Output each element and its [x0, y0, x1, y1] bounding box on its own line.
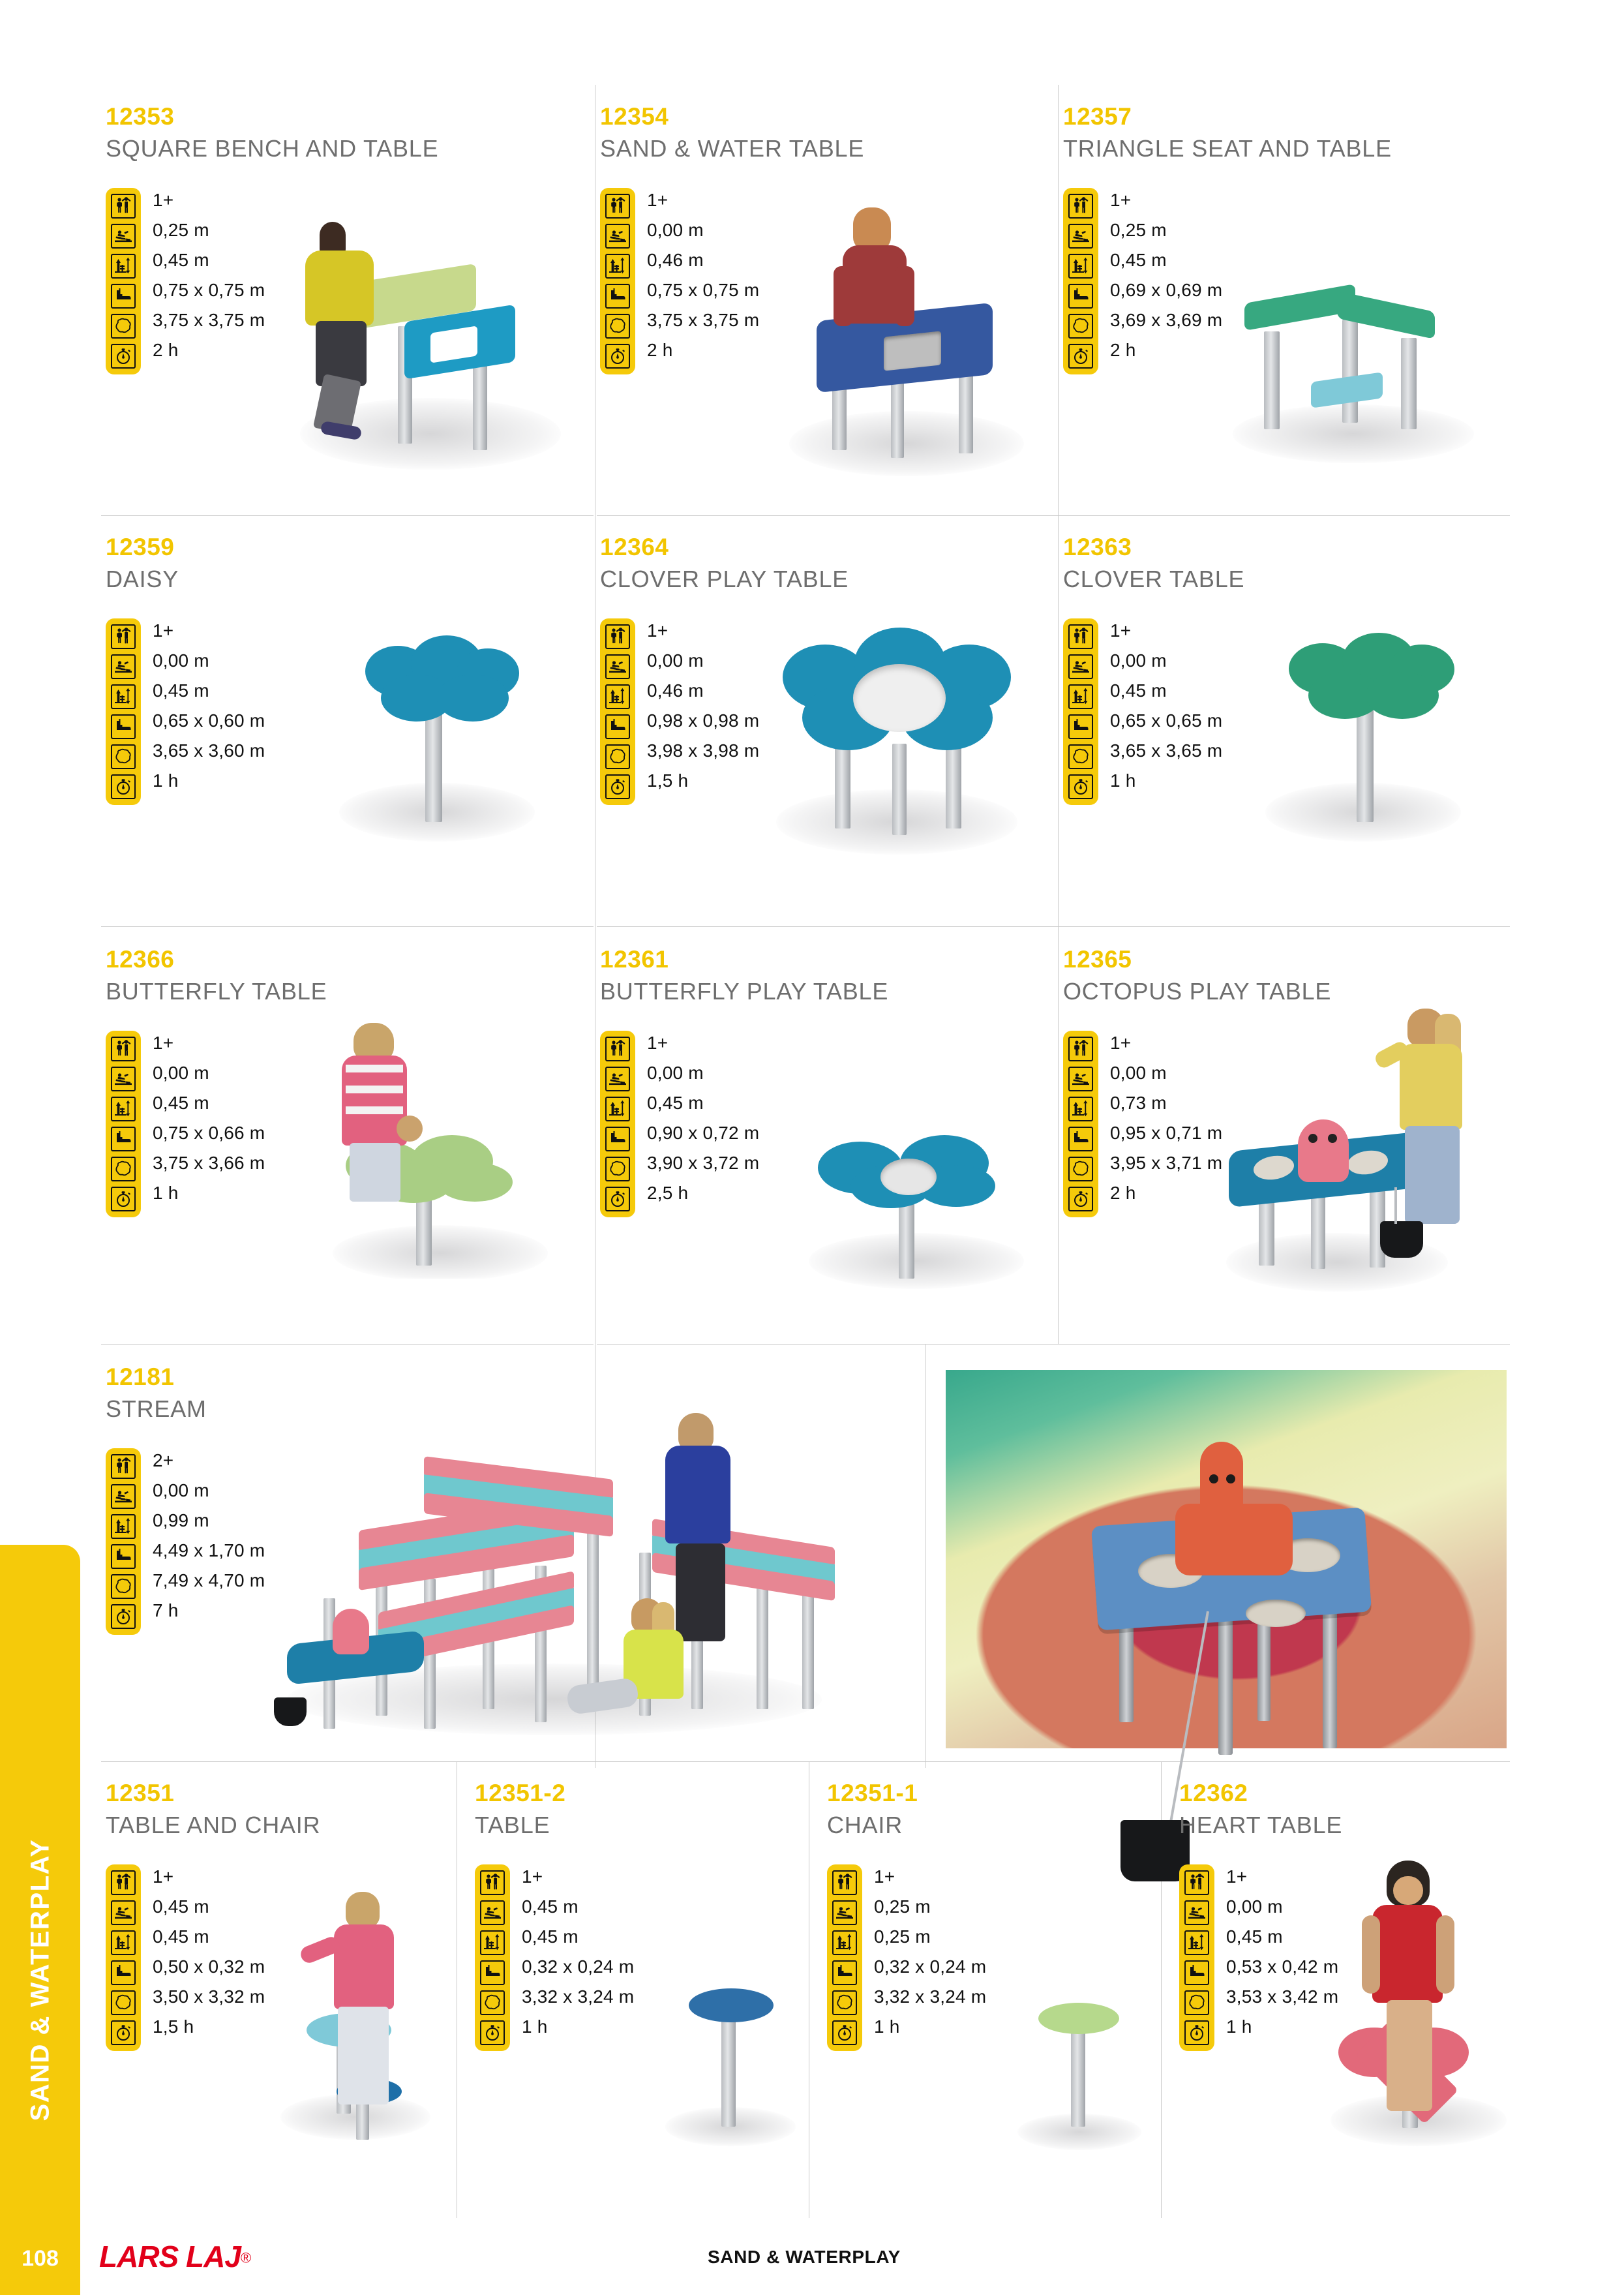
spec-strip: 1+0,00 m0,45 m0,53 x 0,42 m3,53 x 3,42 m… — [1179, 1864, 1338, 2051]
safety-zone-icon — [1068, 314, 1093, 339]
footprint-icon — [832, 1960, 857, 1985]
safety-zone-icon — [1068, 744, 1093, 769]
spec-value: 0,69 x 0,69 m — [1110, 278, 1222, 303]
fall-height-icon — [1068, 224, 1093, 249]
spec-value: 1+ — [647, 618, 759, 643]
product-name: CLOVER TABLE — [1063, 567, 1244, 592]
age-group-icon — [1068, 624, 1093, 649]
spec-icon-column — [106, 1864, 141, 2051]
product-card-12362[interactable]: 12362 HEART TABLE — [1179, 1781, 1342, 1838]
install-time-icon — [111, 2020, 136, 2045]
safety-zone-icon — [605, 744, 630, 769]
spec-strip: 1+0,00 m0,45 m0,90 x 0,72 m3,90 x 3,72 m… — [600, 1031, 759, 1217]
spec-value: 1 h — [153, 768, 265, 793]
spec-icon-column — [475, 1864, 510, 2051]
equipment-height-icon — [1068, 1097, 1093, 1121]
spec-value: 0,65 x 0,60 m — [153, 708, 265, 733]
spec-value: 0,73 m — [1110, 1091, 1222, 1116]
spec-value: 1+ — [153, 1864, 265, 1889]
spec-value: 0,98 x 0,98 m — [647, 708, 759, 733]
age-group-icon — [832, 1870, 857, 1895]
equipment-height-icon — [605, 684, 630, 709]
spec-value: 3,69 x 3,69 m — [1110, 308, 1222, 333]
spec-value: 0,32 x 0,24 m — [874, 1954, 986, 1979]
spec-value-column: 1+0,00 m0,45 m0,65 x 0,65 m3,65 x 3,65 m… — [1110, 618, 1222, 805]
category-tab: SAND & WATERPLAY 108 — [0, 1545, 80, 2295]
age-group-icon — [605, 1037, 630, 1061]
spec-value: 3,65 x 3,65 m — [1110, 738, 1222, 763]
product-name: HEART TABLE — [1179, 1813, 1342, 1838]
spec-icon-column — [600, 1031, 635, 1217]
spec-value: 0,00 m — [1110, 648, 1222, 673]
playground-photo-octopus — [946, 1370, 1507, 1748]
spec-strip: 1+0,00 m0,46 m0,75 x 0,75 m3,75 x 3,75 m… — [600, 188, 759, 374]
safety-zone-icon — [111, 1157, 136, 1181]
spec-value: 0,45 m — [1226, 1924, 1338, 1949]
spec-strip: 1+0,25 m0,45 m0,75 x 0,75 m3,75 x 3,75 m… — [106, 188, 265, 374]
spec-icon-column — [1063, 1031, 1098, 1217]
install-time-icon — [1068, 344, 1093, 369]
footprint-icon — [1068, 284, 1093, 309]
product-photo-12366 — [307, 1018, 567, 1279]
install-time-icon — [832, 2020, 857, 2045]
product-code: 12351-2 — [475, 1781, 565, 1805]
product-code: 12181 — [106, 1365, 207, 1389]
spec-value: 1 h — [153, 1181, 265, 1206]
install-time-icon — [111, 774, 136, 799]
spec-strip: 1+0,25 m0,25 m0,32 x 0,24 m3,32 x 3,24 m… — [827, 1864, 986, 2051]
grid-divider — [101, 515, 594, 516]
spec-value: 0,32 x 0,24 m — [522, 1954, 634, 1979]
spec-value: 0,75 x 0,66 m — [153, 1121, 265, 1146]
equipment-height-icon — [480, 1930, 505, 1955]
product-card-12351-2[interactable]: 12351-2 TABLE — [475, 1781, 565, 1838]
spec-value: 0,25 m — [874, 1894, 986, 1919]
spec-value: 2 h — [1110, 1181, 1222, 1206]
fall-height-icon — [111, 1900, 136, 1925]
product-card-12363[interactable]: 12363 CLOVER TABLE — [1063, 535, 1244, 592]
product-code: 12366 — [106, 947, 327, 971]
spec-value: 0,00 m — [153, 1061, 265, 1086]
footprint-icon — [605, 1127, 630, 1151]
equipment-height-icon — [111, 1514, 136, 1539]
spec-strip: 1+0,00 m0,45 m0,65 x 0,65 m3,65 x 3,65 m… — [1063, 618, 1222, 805]
fall-height-icon — [1068, 1067, 1093, 1091]
spec-value: 7 h — [153, 1598, 265, 1623]
spec-value: 0,00 m — [647, 648, 759, 673]
product-card-12359[interactable]: 12359 DAISY — [106, 535, 179, 592]
spec-strip: 1+0,45 m0,45 m0,50 x 0,32 m3,50 x 3,32 m… — [106, 1864, 265, 2051]
spec-value-column: 1+0,00 m0,73 m0,95 x 0,71 m3,95 x 3,71 m… — [1110, 1031, 1222, 1217]
product-card-12364[interactable]: 12364 CLOVER PLAY TABLE — [600, 535, 849, 592]
spec-value: 3,32 x 3,24 m — [874, 1984, 986, 2009]
spec-value: 2 h — [1110, 338, 1222, 363]
spec-value: 0,25 m — [1110, 218, 1222, 243]
spec-value: 1+ — [153, 188, 265, 213]
safety-zone-icon — [832, 1990, 857, 2015]
spec-value: 0,25 m — [153, 218, 265, 243]
grid-divider — [101, 1761, 1510, 1762]
product-name: TABLE AND CHAIR — [106, 1813, 320, 1838]
spec-value: 1 h — [1110, 768, 1222, 793]
product-code: 12363 — [1063, 535, 1244, 559]
footer-category-label: SAND & WATERPLAY — [708, 2247, 901, 2268]
spec-value: 4,49 x 1,70 m — [153, 1538, 265, 1563]
product-code: 12362 — [1179, 1781, 1342, 1805]
product-card-12353[interactable]: 12353 SQUARE BENCH AND TABLE — [106, 104, 438, 161]
spec-value: 1,5 h — [153, 2014, 265, 2039]
spec-icon-column — [1179, 1864, 1214, 2051]
spec-value: 0,95 x 0,71 m — [1110, 1121, 1222, 1146]
equipment-height-icon — [111, 1097, 136, 1121]
install-time-icon — [605, 344, 630, 369]
spec-value: 0,45 m — [153, 1924, 265, 1949]
spec-strip: 2+0,00 m0,99 m4,49 x 1,70 m7,49 x 4,70 m… — [106, 1448, 265, 1635]
spec-value: 1 h — [522, 2014, 634, 2039]
grid-divider — [925, 1344, 925, 1768]
spec-value: 0,45 m — [647, 1091, 759, 1116]
spec-value-column: 1+0,00 m0,45 m0,53 x 0,42 m3,53 x 3,42 m… — [1226, 1864, 1338, 2051]
spec-value: 0,46 m — [647, 248, 759, 273]
spec-value: 0,75 x 0,75 m — [647, 278, 759, 303]
spec-value: 1,5 h — [647, 768, 759, 793]
spec-value: 0,45 m — [153, 1894, 265, 1919]
install-time-icon — [1068, 1187, 1093, 1211]
safety-zone-icon — [111, 314, 136, 339]
grid-divider — [597, 1344, 1089, 1345]
install-time-icon — [1068, 774, 1093, 799]
spec-value: 0,46 m — [647, 678, 759, 703]
age-group-icon — [111, 194, 136, 219]
spec-value: 3,98 x 3,98 m — [647, 738, 759, 763]
spec-value: 1+ — [1226, 1864, 1338, 1889]
age-group-icon — [1184, 1870, 1209, 1895]
spec-strip: 1+0,00 m0,45 m0,75 x 0,66 m3,75 x 3,66 m… — [106, 1031, 265, 1217]
spec-value: 2+ — [153, 1448, 265, 1473]
footprint-icon — [1068, 1127, 1093, 1151]
age-group-icon — [111, 624, 136, 649]
spec-value-column: 1+0,00 m0,45 m0,75 x 0,66 m3,75 x 3,66 m… — [153, 1031, 265, 1217]
product-code: 12353 — [106, 104, 438, 129]
spec-icon-column — [106, 1448, 141, 1635]
grid-divider — [597, 926, 1089, 927]
spec-value: 0,45 m — [1110, 678, 1222, 703]
spec-value: 3,32 x 3,24 m — [522, 1984, 634, 2009]
age-group-icon — [605, 194, 630, 219]
fall-height-icon — [605, 224, 630, 249]
product-name: SQUARE BENCH AND TABLE — [106, 136, 438, 161]
grid-divider — [1060, 515, 1510, 516]
footprint-icon — [605, 714, 630, 739]
install-time-icon — [111, 1187, 136, 1211]
age-group-icon — [605, 624, 630, 649]
product-name: CLOVER PLAY TABLE — [600, 567, 849, 592]
spec-value: 1 h — [874, 2014, 986, 2039]
spec-value-column: 1+0,25 m0,45 m0,75 x 0,75 m3,75 x 3,75 m… — [153, 188, 265, 374]
product-code: 12351-1 — [827, 1781, 918, 1805]
product-code: 12354 — [600, 104, 864, 129]
grid-divider — [1060, 1344, 1510, 1345]
spec-value-column: 1+0,25 m0,45 m0,69 x 0,69 m3,69 x 3,69 m… — [1110, 188, 1222, 374]
safety-zone-icon — [605, 1157, 630, 1181]
fall-height-icon — [605, 1067, 630, 1091]
brand-logo-text: LARS LAJ — [99, 2240, 241, 2273]
equipment-height-icon — [111, 684, 136, 709]
spec-value: 0,00 m — [1110, 1061, 1222, 1086]
spec-value: 0,45 m — [1110, 248, 1222, 273]
product-photo-12365 — [1220, 992, 1500, 1305]
safety-zone-icon — [1184, 1990, 1209, 2015]
page-footer: LARS LAJ® SAND & WATERPLAY — [0, 2217, 1624, 2295]
age-group-icon — [1068, 1037, 1093, 1061]
equipment-height-icon — [605, 1097, 630, 1121]
product-name: CHAIR — [827, 1813, 918, 1838]
product-card-12181[interactable]: 12181 STREAM — [106, 1365, 207, 1421]
age-group-icon — [111, 1037, 136, 1061]
fall-height-icon — [605, 654, 630, 679]
grid-divider — [1060, 926, 1510, 927]
spec-value: 0,50 x 0,32 m — [153, 1954, 265, 1979]
product-photo-12351-1 — [1017, 1977, 1141, 2159]
fall-height-icon — [111, 1067, 136, 1091]
product-photo-12353 — [280, 209, 580, 489]
age-group-icon — [480, 1870, 505, 1895]
fall-height-icon — [480, 1900, 505, 1925]
grid-divider — [101, 1344, 594, 1345]
spec-value: 1+ — [874, 1864, 986, 1889]
spec-value-column: 1+0,00 m0,45 m0,90 x 0,72 m3,90 x 3,72 m… — [647, 1031, 759, 1217]
spec-value: 0,99 m — [153, 1508, 265, 1533]
spec-value-column: 1+0,45 m0,45 m0,50 x 0,32 m3,50 x 3,32 m… — [153, 1864, 265, 2051]
spec-value: 1+ — [647, 188, 759, 213]
product-card-12351[interactable]: 12351 TABLE AND CHAIR — [106, 1781, 320, 1838]
fall-height-icon — [111, 224, 136, 249]
spec-value: 0,53 x 0,42 m — [1226, 1954, 1338, 1979]
safety-zone-icon — [1068, 1157, 1093, 1181]
product-card-12361[interactable]: 12361 BUTTERFLY PLAY TABLE — [600, 947, 888, 1004]
age-group-icon — [1068, 194, 1093, 219]
product-code: 12359 — [106, 535, 179, 559]
spec-value: 3,65 x 3,60 m — [153, 738, 265, 763]
spec-icon-column — [827, 1864, 862, 2051]
product-photo-12364 — [757, 594, 1037, 868]
product-photo-12351-2 — [665, 1957, 796, 2153]
equipment-height-icon — [111, 1930, 136, 1955]
fall-height-icon — [111, 1484, 136, 1509]
fall-height-icon — [1068, 654, 1093, 679]
spec-value: 2 h — [647, 338, 759, 363]
safety-zone-icon — [605, 314, 630, 339]
product-card-12365[interactable]: 12365 OCTOPUS PLAY TABLE — [1063, 947, 1331, 1004]
install-time-icon — [605, 774, 630, 799]
spec-icon-column — [600, 618, 635, 805]
safety-zone-icon — [111, 744, 136, 769]
footprint-icon — [480, 1960, 505, 1985]
spec-value: 0,00 m — [1226, 1894, 1338, 1919]
spec-value-column: 1+0,25 m0,25 m0,32 x 0,24 m3,32 x 3,24 m… — [874, 1864, 986, 2051]
fall-height-icon — [1184, 1900, 1209, 1925]
safety-zone-icon — [111, 1990, 136, 2015]
grid-divider — [457, 1761, 457, 2218]
product-code: 12364 — [600, 535, 849, 559]
catalog-page: SAND & WATERPLAY 108 — [0, 0, 1624, 2295]
spec-icon-column — [106, 188, 141, 374]
spec-value: 1+ — [1110, 618, 1222, 643]
spec-value: 3,95 x 3,71 m — [1110, 1151, 1222, 1176]
spec-value: 0,65 x 0,65 m — [1110, 708, 1222, 733]
brand-logo: LARS LAJ® — [99, 2239, 251, 2274]
grid-divider — [1058, 85, 1059, 1344]
spec-value: 0,45 m — [153, 1091, 265, 1116]
spec-value: 3,53 x 3,42 m — [1226, 1984, 1338, 2009]
footprint-icon — [605, 284, 630, 309]
spec-value: 0,25 m — [874, 1924, 986, 1949]
spec-value: 7,49 x 4,70 m — [153, 1568, 265, 1593]
age-group-icon — [111, 1454, 136, 1479]
spec-icon-column — [600, 188, 635, 374]
install-time-icon — [480, 2020, 505, 2045]
spec-value: 1+ — [522, 1864, 634, 1889]
spec-value-column: 2+0,00 m0,99 m4,49 x 1,70 m7,49 x 4,70 m… — [153, 1448, 265, 1635]
age-group-icon — [111, 1870, 136, 1895]
spec-value: 0,00 m — [647, 1061, 759, 1086]
spec-value: 1+ — [647, 1031, 759, 1056]
spec-value-column: 1+0,00 m0,46 m0,98 x 0,98 m3,98 x 3,98 m… — [647, 618, 759, 805]
spec-value-column: 1+0,00 m0,45 m0,65 x 0,60 m3,65 x 3,60 m… — [153, 618, 265, 805]
spec-icon-column — [106, 618, 141, 805]
product-photo-12351 — [274, 1879, 444, 2153]
product-photo-12357 — [1226, 228, 1487, 463]
spec-value: 1 h — [1226, 2014, 1338, 2039]
footprint-icon — [1184, 1960, 1209, 1985]
equipment-height-icon — [1184, 1930, 1209, 1955]
product-code: 12351 — [106, 1781, 320, 1805]
spec-strip: 1+0,25 m0,45 m0,69 x 0,69 m3,69 x 3,69 m… — [1063, 188, 1222, 374]
grid-divider — [101, 926, 594, 927]
equipment-height-icon — [111, 254, 136, 279]
spec-strip: 1+0,00 m0,46 m0,98 x 0,98 m3,98 x 3,98 m… — [600, 618, 759, 805]
grid-divider — [597, 515, 1089, 516]
footprint-icon — [111, 714, 136, 739]
footprint-icon — [1068, 714, 1093, 739]
product-name: BUTTERFLY TABLE — [106, 979, 327, 1004]
product-code: 12361 — [600, 947, 888, 971]
spec-icon-column — [1063, 618, 1098, 805]
category-tab-label: SAND & WATERPLAY — [25, 1839, 55, 2121]
product-name: OCTOPUS PLAY TABLE — [1063, 979, 1331, 1004]
spec-value: 1+ — [153, 618, 265, 643]
spec-value: 1+ — [153, 1031, 265, 1056]
install-time-icon — [1184, 2020, 1209, 2045]
product-card-12354[interactable]: 12354 SAND & WATER TABLE — [600, 104, 864, 161]
spec-icon-column — [1063, 188, 1098, 374]
spec-value: 3,90 x 3,72 m — [647, 1151, 759, 1176]
product-card-12357[interactable]: 12357 TRIANGLE SEAT AND TABLE — [1063, 104, 1392, 161]
spec-value: 0,45 m — [522, 1894, 634, 1919]
product-name: STREAM — [106, 1397, 207, 1421]
install-time-icon — [605, 1187, 630, 1211]
product-card-12366[interactable]: 12366 BUTTERFLY TABLE — [106, 947, 327, 1004]
fall-height-icon — [832, 1900, 857, 1925]
grid-divider — [809, 1761, 809, 2218]
product-photo-12362 — [1324, 1853, 1520, 2159]
spec-value: 0,45 m — [153, 248, 265, 273]
spec-icon-column — [106, 1031, 141, 1217]
spec-value: 0,45 m — [153, 678, 265, 703]
spec-value: 0,90 x 0,72 m — [647, 1121, 759, 1146]
install-time-icon — [111, 1604, 136, 1629]
install-time-icon — [111, 344, 136, 369]
spec-value: 1+ — [1110, 1031, 1222, 1056]
registered-mark: ® — [241, 2250, 251, 2266]
product-name: DAISY — [106, 567, 179, 592]
spec-value: 3,75 x 3,75 m — [647, 308, 759, 333]
spec-value: 3,75 x 3,66 m — [153, 1151, 265, 1176]
footprint-icon — [111, 284, 136, 309]
equipment-height-icon — [605, 254, 630, 279]
product-code: 12357 — [1063, 104, 1392, 129]
equipment-height-icon — [1068, 684, 1093, 709]
footprint-icon — [111, 1960, 136, 1985]
product-photo-12363 — [1259, 607, 1481, 855]
spec-strip: 1+0,00 m0,73 m0,95 x 0,71 m3,95 x 3,71 m… — [1063, 1031, 1222, 1217]
spec-value: 3,50 x 3,32 m — [153, 1984, 265, 2009]
spec-value: 1+ — [1110, 188, 1222, 213]
spec-value: 0,00 m — [647, 218, 759, 243]
equipment-height-icon — [832, 1930, 857, 1955]
product-name: TABLE — [475, 1813, 565, 1838]
spec-strip: 1+0,45 m0,45 m0,32 x 0,24 m3,32 x 3,24 m… — [475, 1864, 634, 2051]
product-photo-12361 — [789, 1044, 1050, 1292]
spec-strip: 1+0,00 m0,45 m0,65 x 0,60 m3,65 x 3,60 m… — [106, 618, 265, 805]
spec-value: 2,5 h — [647, 1181, 759, 1206]
product-photo-12354 — [770, 196, 1044, 489]
product-name: TRIANGLE SEAT AND TABLE — [1063, 136, 1392, 161]
safety-zone-icon — [480, 1990, 505, 2015]
spec-value: 0,75 x 0,75 m — [153, 278, 265, 303]
spec-value: 0,45 m — [522, 1924, 634, 1949]
product-card-12351-1[interactable]: 12351-1 CHAIR — [827, 1781, 918, 1838]
equipment-height-icon — [1068, 254, 1093, 279]
fall-height-icon — [111, 654, 136, 679]
product-name: SAND & WATER TABLE — [600, 136, 864, 161]
spec-value: 2 h — [153, 338, 265, 363]
product-photo-12181 — [261, 1403, 861, 1735]
footprint-icon — [111, 1544, 136, 1569]
product-photo-12359 — [326, 607, 561, 855]
footprint-icon — [111, 1127, 136, 1151]
safety-zone-icon — [111, 1574, 136, 1599]
spec-value-column: 1+0,00 m0,46 m0,75 x 0,75 m3,75 x 3,75 m… — [647, 188, 759, 374]
product-code: 12365 — [1063, 947, 1331, 971]
product-name: BUTTERFLY PLAY TABLE — [600, 979, 888, 1004]
spec-value: 0,00 m — [153, 648, 265, 673]
spec-value: 0,00 m — [153, 1478, 265, 1503]
spec-value: 3,75 x 3,75 m — [153, 308, 265, 333]
spec-value-column: 1+0,45 m0,45 m0,32 x 0,24 m3,32 x 3,24 m… — [522, 1864, 634, 2051]
